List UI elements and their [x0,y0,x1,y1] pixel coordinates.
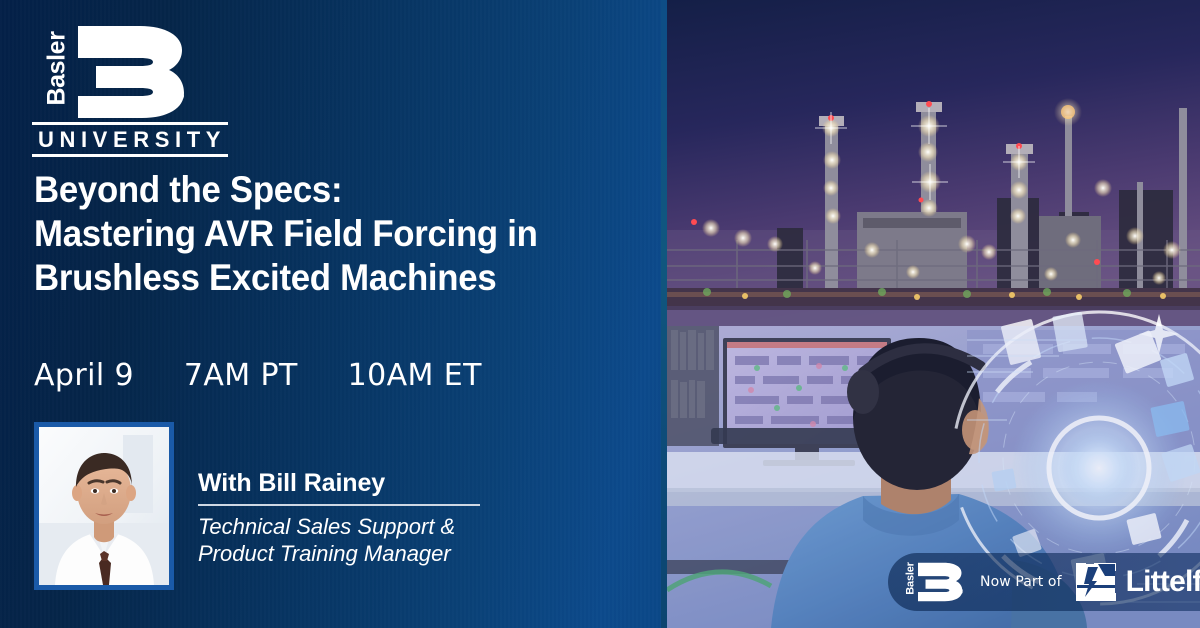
avatar [39,427,169,585]
university-lockup: UNIVERSITY [32,122,228,157]
basler-footer-wordmark: Basler [906,562,917,594]
schedule-date: April 9 [34,358,134,393]
hero-photo [667,0,1200,628]
schedule-time-et: 10AM ET [348,358,482,393]
title-line-1: Beyond the Specs: [34,168,626,212]
registered-mark-icon-footer: ® [958,589,963,596]
basler-wordmark: Basler [45,31,70,105]
title-line-2: Mastering AVR Field Forcing in [34,212,626,256]
speaker-photo-frame [34,422,174,590]
speaker-name: With Bill Rainey [198,470,480,498]
littelfuse-wordmark: Littelfuse ® [1126,567,1200,597]
basler-footer-logo: Basler ® [902,559,970,605]
registered-mark-icon: ® [176,92,184,103]
now-part-of-label: Now Part of [980,574,1062,590]
panel-divider [661,0,667,628]
schedule-line: April 9 7AM PT 10AM ET [34,358,482,393]
littelfuse-bolt-icon [1074,563,1118,601]
speaker-details: With Bill Rainey Technical Sales Support… [198,422,480,567]
university-label: UNIVERSITY [32,125,228,154]
speaker-divider [198,504,480,506]
littelfuse-text: Littelfuse [1126,565,1200,598]
university-rule-bottom [32,154,228,157]
page-title: Beyond the Specs: Mastering AVR Field Fo… [34,168,661,300]
basler-logo-mark: Basler ® [34,26,214,118]
speaker-block: With Bill Rainey Technical Sales Support… [34,422,480,590]
partner-logo-lockup: Basler ® Now Part of [888,553,1200,611]
basler-b-icon [78,26,188,118]
left-content-panel: Basler ® UNIVERSITY Beyond the Specs: Ma… [0,0,661,628]
littelfuse-logo: Littelfuse ® [1074,563,1200,601]
basler-b-icon-footer [918,561,964,603]
title-line-3: Brushless Excited Machines [34,256,626,300]
schedule-time-pt: 7AM PT [184,358,298,393]
webinar-promo-banner: Basler ® UNIVERSITY Beyond the Specs: Ma… [0,0,1200,628]
speaker-role-line-2: Product Training Manager [198,540,480,567]
basler-university-logo: Basler ® UNIVERSITY [34,26,264,146]
speaker-role-line-1: Technical Sales Support & [198,513,480,540]
